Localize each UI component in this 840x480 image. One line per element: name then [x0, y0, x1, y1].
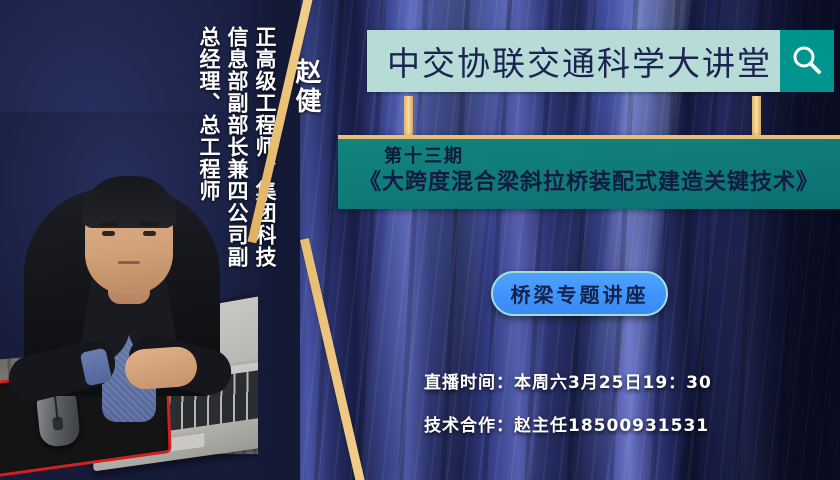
eye-right — [143, 231, 156, 236]
speaker-title-line-3: 总经理、总工程师 — [194, 26, 224, 202]
speaker-hands — [124, 346, 199, 391]
poster-canvas: 总经理、总工程师 信息部副部长兼四公司副 正高级工程师、集团科技 赵健 中交协联… — [0, 0, 840, 480]
eye-left — [102, 231, 115, 236]
category-badge-label: 桥梁专题讲座 — [511, 279, 649, 308]
search-button[interactable] — [780, 30, 834, 92]
page-title: 中交协联交通科学大讲堂 — [367, 37, 780, 85]
mouth — [118, 261, 140, 264]
live-time-text: 直播时间：本周六3月25日19：30 — [424, 368, 712, 393]
issue-number: 第十三期 — [350, 145, 828, 169]
search-icon — [790, 44, 824, 78]
title-banner: 中交协联交通科学大讲堂 — [367, 30, 780, 92]
contact-text: 技术合作：赵主任18500931531 — [424, 411, 709, 436]
category-badge[interactable]: 桥梁专题讲座 — [491, 271, 668, 316]
mouse-scroll-wheel — [52, 417, 63, 431]
subtitle-panel: 第十三期 《大跨度混合梁斜拉桥装配式建造关键技术》 — [338, 135, 840, 209]
speaker-title-line-2: 信息部副部长兼四公司副 — [222, 26, 252, 268]
lecture-topic: 《大跨度混合梁斜拉桥装配式建造关键技术》 — [350, 169, 828, 198]
